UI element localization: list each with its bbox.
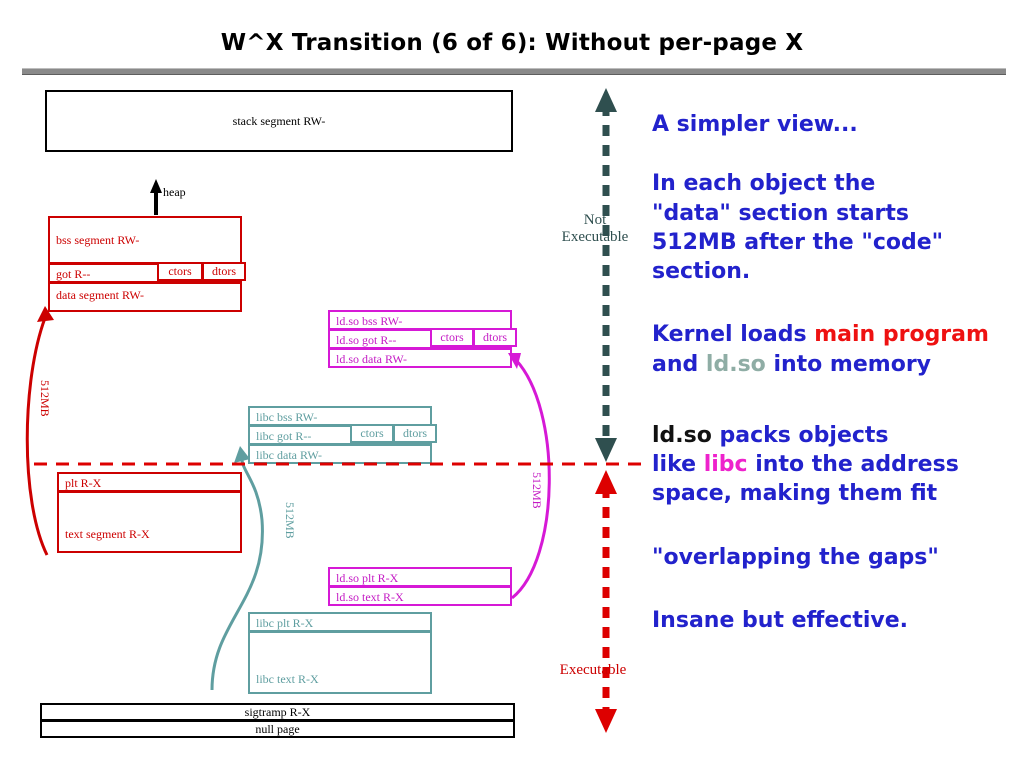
note-paragraph-6: Insane but effective. bbox=[652, 606, 1024, 635]
note-3-kernel-loads: Kernel loads bbox=[652, 322, 814, 347]
ldso-ctors-box: ctors bbox=[430, 328, 474, 347]
libc-plt-box: libc plt R-X bbox=[248, 612, 432, 632]
libc-dtors-label: dtors bbox=[403, 426, 427, 440]
ldso-plt-box: ld.so plt R-X bbox=[328, 567, 512, 587]
ldso-data-box: ld.so data RW- bbox=[328, 348, 512, 368]
note-2-line-1: In each object the bbox=[652, 169, 1024, 198]
note-5-text: "overlapping the gaps" bbox=[652, 545, 939, 570]
null-page-box: null page bbox=[40, 720, 515, 738]
ldso-dtors-box: dtors bbox=[473, 328, 517, 347]
note-4-packs-objects: packs objects bbox=[712, 423, 889, 448]
ldso-ctors-label: ctors bbox=[440, 330, 463, 344]
note-4-into-address: into the address bbox=[748, 452, 959, 477]
note-3-ldso: ld.so bbox=[706, 352, 766, 377]
not-executable-line2: Executable bbox=[553, 229, 637, 246]
ldso-text-label: ld.so text R-X bbox=[336, 591, 404, 604]
ldso-bss-box: ld.so bss RW- bbox=[328, 310, 512, 330]
stack-segment-label: stack segment RW- bbox=[47, 115, 511, 128]
note-3-and: and bbox=[652, 352, 706, 377]
note-2-line-4: section. bbox=[652, 257, 1024, 286]
slide-canvas: W^X Transition (6 of 6): Without per-pag… bbox=[0, 0, 1024, 768]
sigtramp-label: sigtramp R-X bbox=[42, 706, 513, 719]
note-paragraph-4: ld.so packs objects like libc into the a… bbox=[652, 421, 1024, 509]
main-plt-box: plt R-X bbox=[57, 472, 242, 492]
libc-bss-label: libc bss RW- bbox=[256, 411, 317, 424]
ldso-gap-label: 512MB bbox=[529, 472, 544, 509]
main-ctors-label: ctors bbox=[168, 264, 191, 278]
main-plt-label: plt R-X bbox=[65, 477, 101, 490]
note-paragraph-1: A simpler view... bbox=[652, 110, 1024, 139]
not-executable-axis-arrow bbox=[595, 88, 617, 462]
note-4-line-3: space, making them fit bbox=[652, 479, 1024, 508]
note-4-like: like bbox=[652, 452, 704, 477]
ldso-got-label: ld.so got R-- bbox=[336, 334, 396, 347]
note-6-text: Insane but effective. bbox=[652, 608, 908, 633]
main-program-gap-arrow bbox=[27, 306, 54, 555]
libc-ctors-label: ctors bbox=[360, 426, 383, 440]
ldso-plt-label: ld.so plt R-X bbox=[336, 572, 398, 585]
note-2-line-2: "data" section starts bbox=[652, 199, 1024, 228]
ldso-bss-label: ld.so bss RW- bbox=[336, 315, 402, 328]
note-paragraph-2: In each object the "data" section starts… bbox=[652, 169, 1024, 286]
executable-axis-arrow bbox=[595, 470, 617, 733]
main-text-segment-box: text segment R-X bbox=[57, 491, 242, 553]
libc-ctors-box: ctors bbox=[350, 424, 394, 443]
ldso-dtors-label: dtors bbox=[483, 330, 507, 344]
not-executable-label: Not Executable bbox=[553, 212, 637, 247]
libc-text-label: libc text R-X bbox=[256, 673, 319, 686]
null-page-label: null page bbox=[42, 723, 513, 736]
note-3-line-1: Kernel loads main program bbox=[652, 320, 1024, 349]
main-data-label: data segment RW- bbox=[56, 289, 144, 302]
main-got-label: got R-- bbox=[56, 268, 90, 281]
heap-label: heap bbox=[163, 185, 186, 200]
note-3-into-memory: into memory bbox=[766, 352, 931, 377]
note-4-line-1: ld.so packs objects bbox=[652, 421, 1024, 450]
title-divider bbox=[22, 68, 1006, 75]
libc-bss-box: libc bss RW- bbox=[248, 406, 432, 426]
main-data-segment-box: data segment RW- bbox=[48, 282, 242, 312]
libc-data-box: libc data RW- bbox=[248, 444, 432, 464]
note-paragraph-5: "overlapping the gaps" bbox=[652, 543, 1024, 572]
ldso-text-box: ld.so text R-X bbox=[328, 586, 512, 606]
note-4-ldso: ld.so bbox=[652, 423, 712, 448]
commentary-panel: A simpler view... In each object the "da… bbox=[652, 110, 1024, 635]
stack-segment-box: stack segment RW- bbox=[45, 90, 513, 152]
heap-arrow bbox=[150, 179, 162, 215]
note-2-line-3: 512MB after the "code" bbox=[652, 228, 1024, 257]
main-ctors-box: ctors bbox=[157, 262, 203, 281]
note-4-line-2: like libc into the address bbox=[652, 450, 1024, 479]
libc-plt-label: libc plt R-X bbox=[256, 617, 313, 630]
ldso-data-label: ld.so data RW- bbox=[336, 353, 407, 366]
note-1-text: A simpler view... bbox=[652, 112, 858, 137]
libc-gap-label: 512MB bbox=[282, 502, 297, 539]
libc-got-label: libc got R-- bbox=[256, 430, 311, 443]
note-4-libc: libc bbox=[704, 452, 748, 477]
note-3-main-program: main program bbox=[814, 322, 989, 347]
sigtramp-box: sigtramp R-X bbox=[40, 703, 515, 721]
not-executable-line1: Not bbox=[553, 212, 637, 229]
executable-label: Executable bbox=[543, 662, 643, 679]
libc-data-label: libc data RW- bbox=[256, 449, 322, 462]
page-title: W^X Transition (6 of 6): Without per-pag… bbox=[0, 30, 1024, 56]
main-bss-segment-box: bss segment RW- bbox=[48, 216, 242, 264]
main-dtors-label: dtors bbox=[212, 264, 236, 278]
libc-dtors-box: dtors bbox=[393, 424, 437, 443]
note-paragraph-3: Kernel loads main program and ld.so into… bbox=[652, 320, 1024, 379]
main-dtors-box: dtors bbox=[202, 262, 246, 281]
note-3-line-2: and ld.so into memory bbox=[652, 350, 1024, 379]
libc-text-box: libc text R-X bbox=[248, 631, 432, 694]
main-bss-label: bss segment RW- bbox=[56, 234, 139, 247]
main-program-gap-label: 512MB bbox=[37, 380, 52, 417]
main-text-label: text segment R-X bbox=[65, 528, 150, 541]
